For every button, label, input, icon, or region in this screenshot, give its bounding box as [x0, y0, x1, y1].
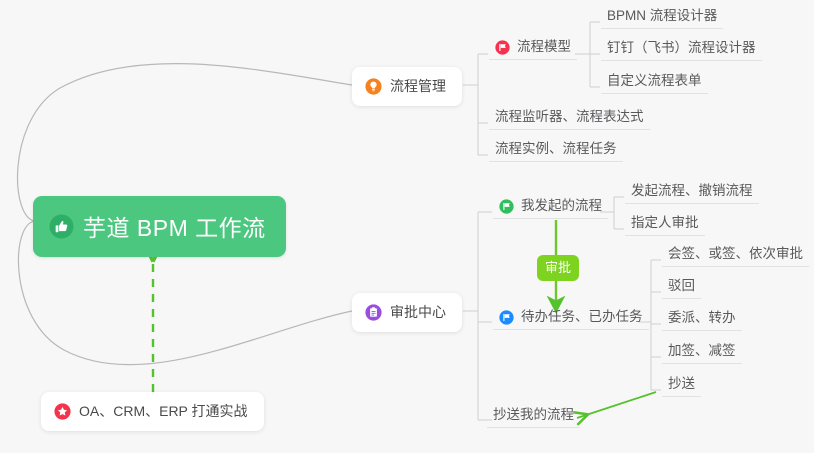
footer-node-integration-practice[interactable]: OA、CRM、ERP 打通实战	[41, 392, 264, 431]
node-reject[interactable]: 驳回	[662, 277, 701, 299]
node-label-custom-process-form: 自定义流程表单	[607, 72, 702, 89]
node-label-reject: 驳回	[668, 277, 695, 294]
node-label-process-listener: 流程监听器、流程表达式	[495, 108, 644, 125]
node-cc[interactable]: 抄送	[662, 375, 701, 397]
node-label-start-cancel-process: 发起流程、撤销流程	[631, 182, 753, 199]
branch-label-process-management: 流程管理	[390, 76, 446, 96]
node-label-designated-approver: 指定人审批	[631, 214, 699, 231]
node-dingtalk-feishu-designer[interactable]: 钉钉（飞书）流程设计器	[601, 39, 762, 61]
flag-icon	[499, 199, 514, 214]
lightbulb-icon	[365, 78, 382, 95]
node-designated-approver[interactable]: 指定人审批	[625, 214, 705, 236]
node-label-todo-done-tasks: 待办任务、已办任务	[521, 308, 643, 325]
node-label-cc-my-process: 抄送我的流程	[493, 406, 574, 423]
node-label-dingtalk-feishu-designer: 钉钉（飞书）流程设计器	[607, 39, 756, 56]
node-cc-my-process[interactable]: 抄送我的流程	[487, 406, 580, 428]
node-process-listener[interactable]: 流程监听器、流程表达式	[489, 108, 650, 130]
node-add-remove-sign[interactable]: 加签、减签	[662, 342, 742, 364]
node-label-my-initiated-process: 我发起的流程	[521, 197, 602, 214]
node-process-model[interactable]: 流程模型	[489, 38, 577, 60]
node-label-delegate-transfer: 委派、转办	[668, 309, 736, 326]
node-label-process-model: 流程模型	[517, 38, 571, 55]
branch-label-approval-center: 审批中心	[390, 302, 446, 322]
star-icon	[54, 403, 71, 420]
thumbs-up-icon	[49, 214, 74, 239]
node-label-cc: 抄送	[668, 375, 695, 392]
node-my-initiated-process[interactable]: 我发起的流程	[493, 197, 608, 219]
node-label-process-instance: 流程实例、流程任务	[495, 140, 617, 157]
node-delegate-transfer[interactable]: 委派、转办	[662, 309, 742, 331]
branch-process-management[interactable]: 流程管理	[352, 67, 462, 106]
node-custom-process-form[interactable]: 自定义流程表单	[601, 72, 708, 94]
node-label-add-remove-sign: 加签、减签	[668, 342, 736, 359]
node-bpmn-designer[interactable]: BPMN 流程设计器	[601, 7, 723, 29]
flag-icon	[495, 40, 510, 55]
node-label-bpmn-designer: BPMN 流程设计器	[607, 7, 717, 24]
node-todo-done-tasks[interactable]: 待办任务、已办任务	[493, 308, 649, 330]
node-countersign[interactable]: 会签、或签、依次审批	[662, 245, 809, 267]
mindmap-canvas: 芋道 BPM 工作流 流程管理 流程模型 BPMN 流程设计器 钉钉（飞书）流程…	[0, 0, 814, 453]
node-start-cancel-process[interactable]: 发起流程、撤销流程	[625, 182, 759, 204]
node-process-instance[interactable]: 流程实例、流程任务	[489, 140, 623, 162]
branch-approval-center[interactable]: 审批中心	[352, 293, 462, 332]
tag-approve[interactable]: 审批	[537, 255, 579, 281]
flag-icon	[499, 310, 514, 325]
footer-node-label: OA、CRM、ERP 打通实战	[79, 401, 248, 421]
root-label: 芋道 BPM 工作流	[83, 209, 266, 243]
root-node[interactable]: 芋道 BPM 工作流	[33, 196, 286, 257]
node-label-countersign: 会签、或签、依次审批	[668, 245, 803, 262]
clipboard-icon	[365, 304, 382, 321]
